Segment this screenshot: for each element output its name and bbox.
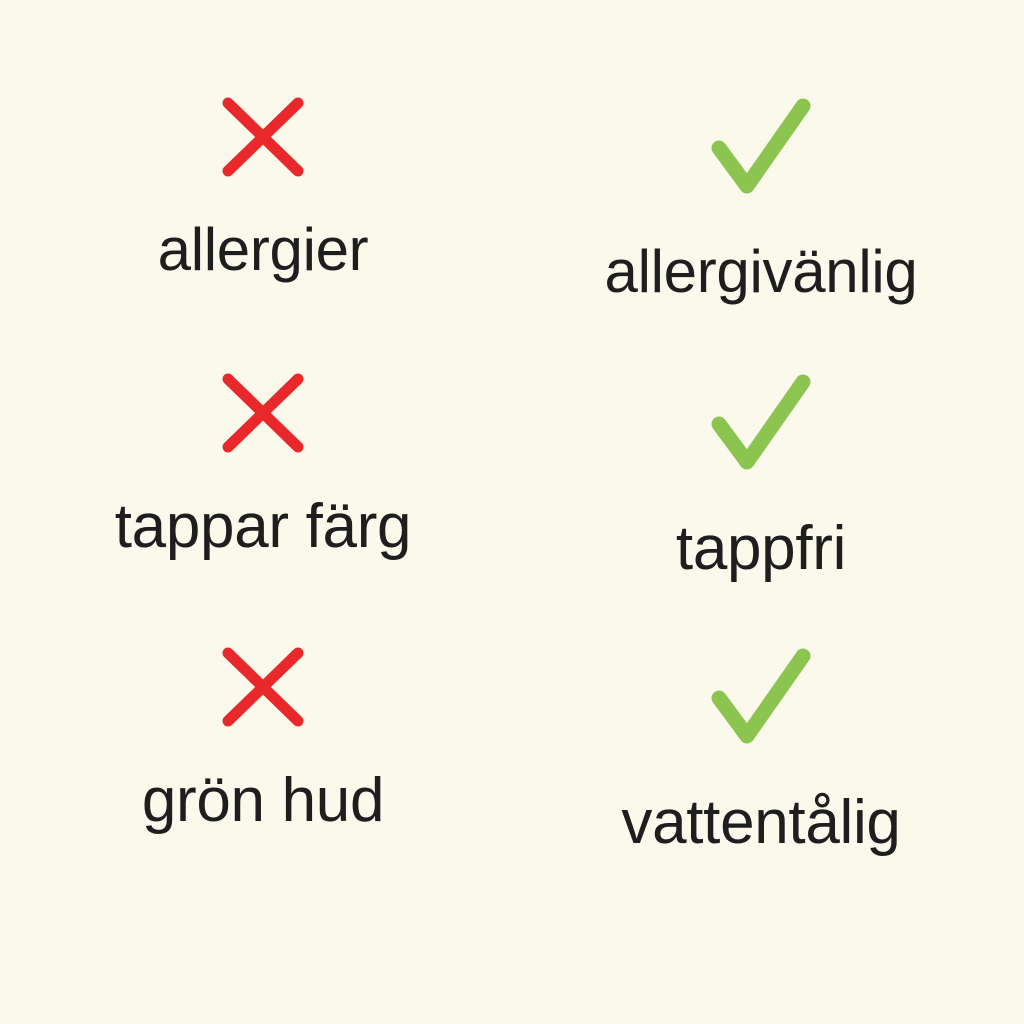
x-mark-icon: [221, 646, 305, 728]
x-mark-icon: [221, 96, 305, 178]
x-mark-icon: [221, 372, 305, 454]
comparison-cell-negative-1: allergier: [0, 96, 512, 280]
check-mark-icon: [711, 372, 811, 476]
comparison-cell-positive-2: tappfri: [512, 372, 1024, 580]
comparison-label-positive-2: tappfri: [676, 518, 846, 580]
comparison-label-negative-1: allergier: [158, 220, 369, 280]
comparison-cell-positive-1: allergivänlig: [512, 96, 1024, 302]
comparison-label-positive-3: vattentålig: [621, 792, 900, 854]
comparison-label-negative-2: tappar färg: [115, 496, 411, 558]
comparison-label-negative-3: grön hud: [142, 770, 384, 832]
comparison-cell-positive-3: vattentålig: [512, 646, 1024, 854]
check-mark-icon: [711, 96, 811, 200]
comparison-graphic: allergier allergivänlig: [0, 0, 1024, 1024]
check-mark-icon: [711, 646, 811, 750]
comparison-grid: allergier allergivänlig: [0, 0, 1024, 1024]
comparison-label-positive-1: allergivänlig: [605, 242, 918, 302]
comparison-cell-negative-3: grön hud: [0, 646, 512, 832]
comparison-cell-negative-2: tappar färg: [0, 372, 512, 558]
